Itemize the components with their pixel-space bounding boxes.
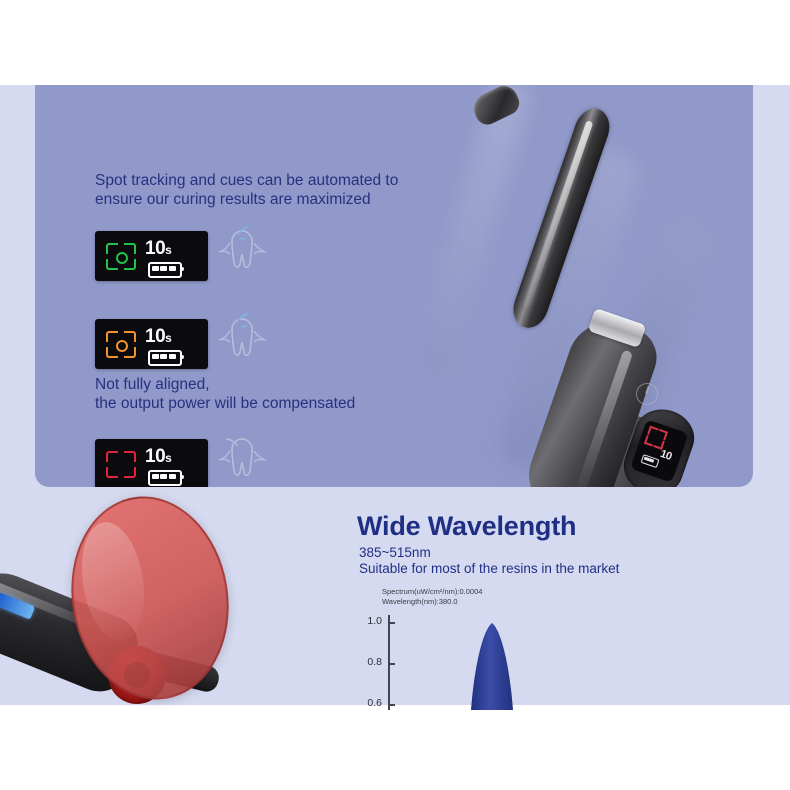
- alignment-bracket-icon-green: [106, 243, 136, 270]
- chart-y-tick: [388, 663, 395, 665]
- panel-timer-aligned: 10s: [145, 238, 171, 260]
- product-infographic-page: 10 Spot tracking and cues can be automat…: [0, 0, 790, 790]
- alignment-bracket-icon: [644, 426, 668, 450]
- battery-icon-aligned: [148, 262, 182, 278]
- wavelength-description: Suitable for most of the resins in the m…: [359, 561, 619, 576]
- curing-light-device-photo: 10: [423, 85, 753, 487]
- chart-readout-annotation: Spectrum(uW/cm²/nm):0.0004 Wavelength(nm…: [382, 587, 482, 606]
- tooth-illustration: [210, 433, 274, 487]
- chart-y-label-1: 1.0: [356, 615, 382, 627]
- battery-icon-partial: [148, 350, 182, 366]
- wide-wavelength-subtitle: 385~515nm Suitable for most of the resin…: [359, 545, 619, 577]
- handpiece-with-shield: [0, 500, 240, 710]
- device-screen-timer: 10: [659, 448, 674, 463]
- alignment-bracket-icon-orange: [106, 331, 136, 358]
- chart-y-label-2: 0.8: [356, 656, 382, 668]
- spectrum-chart: Spectrum(uW/cm²/nm):0.0004 Wavelength(nm…: [340, 585, 660, 710]
- spectrum-curve: [430, 615, 660, 710]
- chart-y-label-3: 0.6: [356, 697, 382, 709]
- lead-paragraph: Spot tracking and cues can be automated …: [95, 171, 398, 209]
- indicator-panel-misaligned: 10s: [95, 439, 208, 487]
- panel-timer-value: 10: [145, 326, 165, 347]
- wide-wavelength-title: Wide Wavelength: [357, 511, 576, 542]
- panel-timer-unit: s: [165, 451, 171, 465]
- second-paragraph: Not fully aligned, the output power will…: [95, 375, 355, 413]
- indicator-panel-aligned: 10s: [95, 231, 208, 281]
- spot-tracking-card: 10 Spot tracking and cues can be automat…: [35, 85, 753, 487]
- chart-y-tick: [388, 622, 395, 624]
- chart-y-tick: [388, 704, 395, 706]
- device-screen-glass: 10: [630, 419, 689, 482]
- panel-timer-unit: s: [165, 243, 171, 257]
- bottom-white-band: [0, 705, 790, 790]
- top-white-band: [0, 0, 790, 85]
- alignment-bracket-icon-red: [106, 451, 136, 478]
- wavelength-range: 385~515nm: [359, 545, 431, 560]
- panel-timer-misaligned: 10s: [145, 446, 171, 468]
- panel-timer-unit: s: [165, 331, 171, 345]
- indicator-panel-partial: 10s: [95, 319, 208, 369]
- panel-timer-value: 10: [145, 446, 165, 467]
- battery-icon-misaligned: [148, 470, 182, 486]
- device-screen-battery-icon: [641, 454, 660, 468]
- tooth-illustration: [210, 313, 274, 371]
- shield-highlight: [74, 518, 152, 646]
- panel-timer-value: 10: [145, 238, 165, 259]
- tooth-illustration: [210, 225, 274, 283]
- motion-blur-ghost: [423, 85, 534, 375]
- panel-timer-partial: 10s: [145, 326, 171, 348]
